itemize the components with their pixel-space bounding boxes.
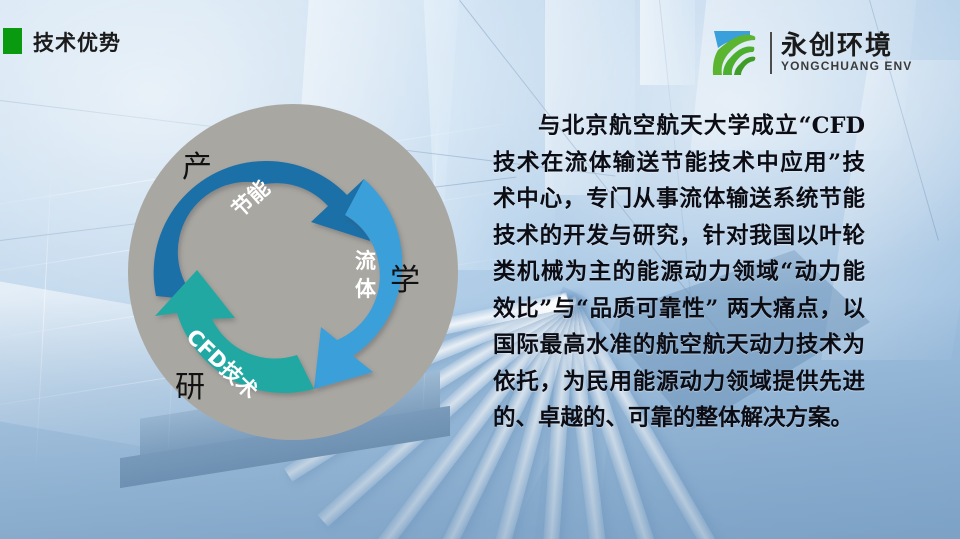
outer-label-chan: 产 [182,142,212,186]
logo-divider [770,32,772,74]
outer-label-yan: 研 [175,362,205,406]
description-paragraph: 与北京航空航天大学成立“CFD技术在流体输送节能技术中应用”技术中心，专门从事流… [493,108,865,437]
company-logo: 永创环境 YONGCHUANG ENV [710,26,915,80]
page-title: 技术优势 [33,27,121,57]
logo-name-cn: 永创环境 [781,33,912,60]
section-marker [3,28,22,54]
logo-text-block: 永创环境 YONGCHUANG ENV [781,33,912,73]
arrow-label-liuti-2: 体 [355,277,377,301]
cycle-diagram: 节能 流 体 CFD技术 产 学 研 [125,100,465,445]
slide-root: 技术优势 永创环境 YONGCHUANG ENV [0,0,960,539]
outer-label-xue: 学 [390,255,420,299]
logo-leaf-icon [710,28,766,78]
arrow-label-liuti: 流 [355,249,376,273]
logo-name-en: YONGCHUANG ENV [781,60,912,73]
